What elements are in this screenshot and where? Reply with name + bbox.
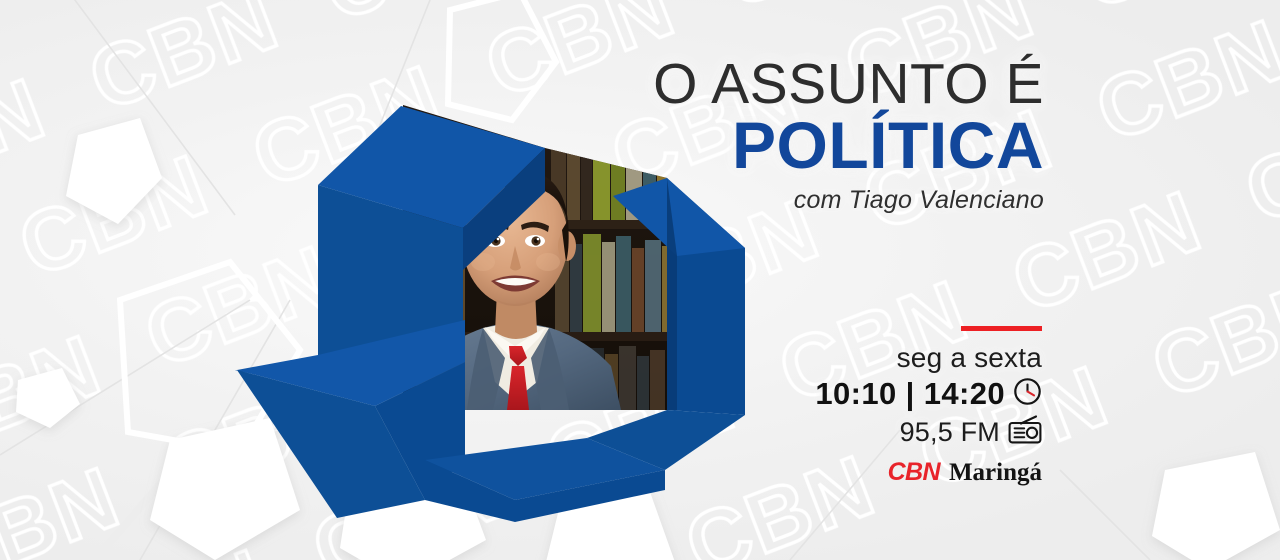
schedule-times-row: 10:10 | 14:20 xyxy=(742,376,1042,412)
title-line-2: POLÍTICA xyxy=(524,112,1044,179)
schedule-days: seg a sexta xyxy=(742,342,1042,373)
schedule-times: 10:10 | 14:20 xyxy=(815,376,1005,412)
schedule-frequency-row: 95,5 FM xyxy=(742,415,1042,449)
radio-program-banner: CBN xyxy=(0,0,1280,560)
clock-icon xyxy=(1013,377,1042,411)
program-title-block: O ASSUNTO É POLÍTICA com Tiago Valencian… xyxy=(524,54,1044,215)
station-brand: CBN Maringá xyxy=(742,458,1042,487)
red-divider-rule xyxy=(961,326,1042,331)
station-city: Maringá xyxy=(949,459,1042,487)
radio-icon xyxy=(1008,415,1042,449)
cbn-logo-text: CBN xyxy=(888,458,940,487)
schedule-frequency: 95,5 FM xyxy=(900,417,1000,448)
schedule-block: seg a sexta 10:10 | 14:20 95,5 FM xyxy=(742,326,1042,487)
title-line-1: O ASSUNTO É xyxy=(524,54,1044,114)
program-host-subtitle: com Tiago Valenciano xyxy=(524,186,1044,215)
